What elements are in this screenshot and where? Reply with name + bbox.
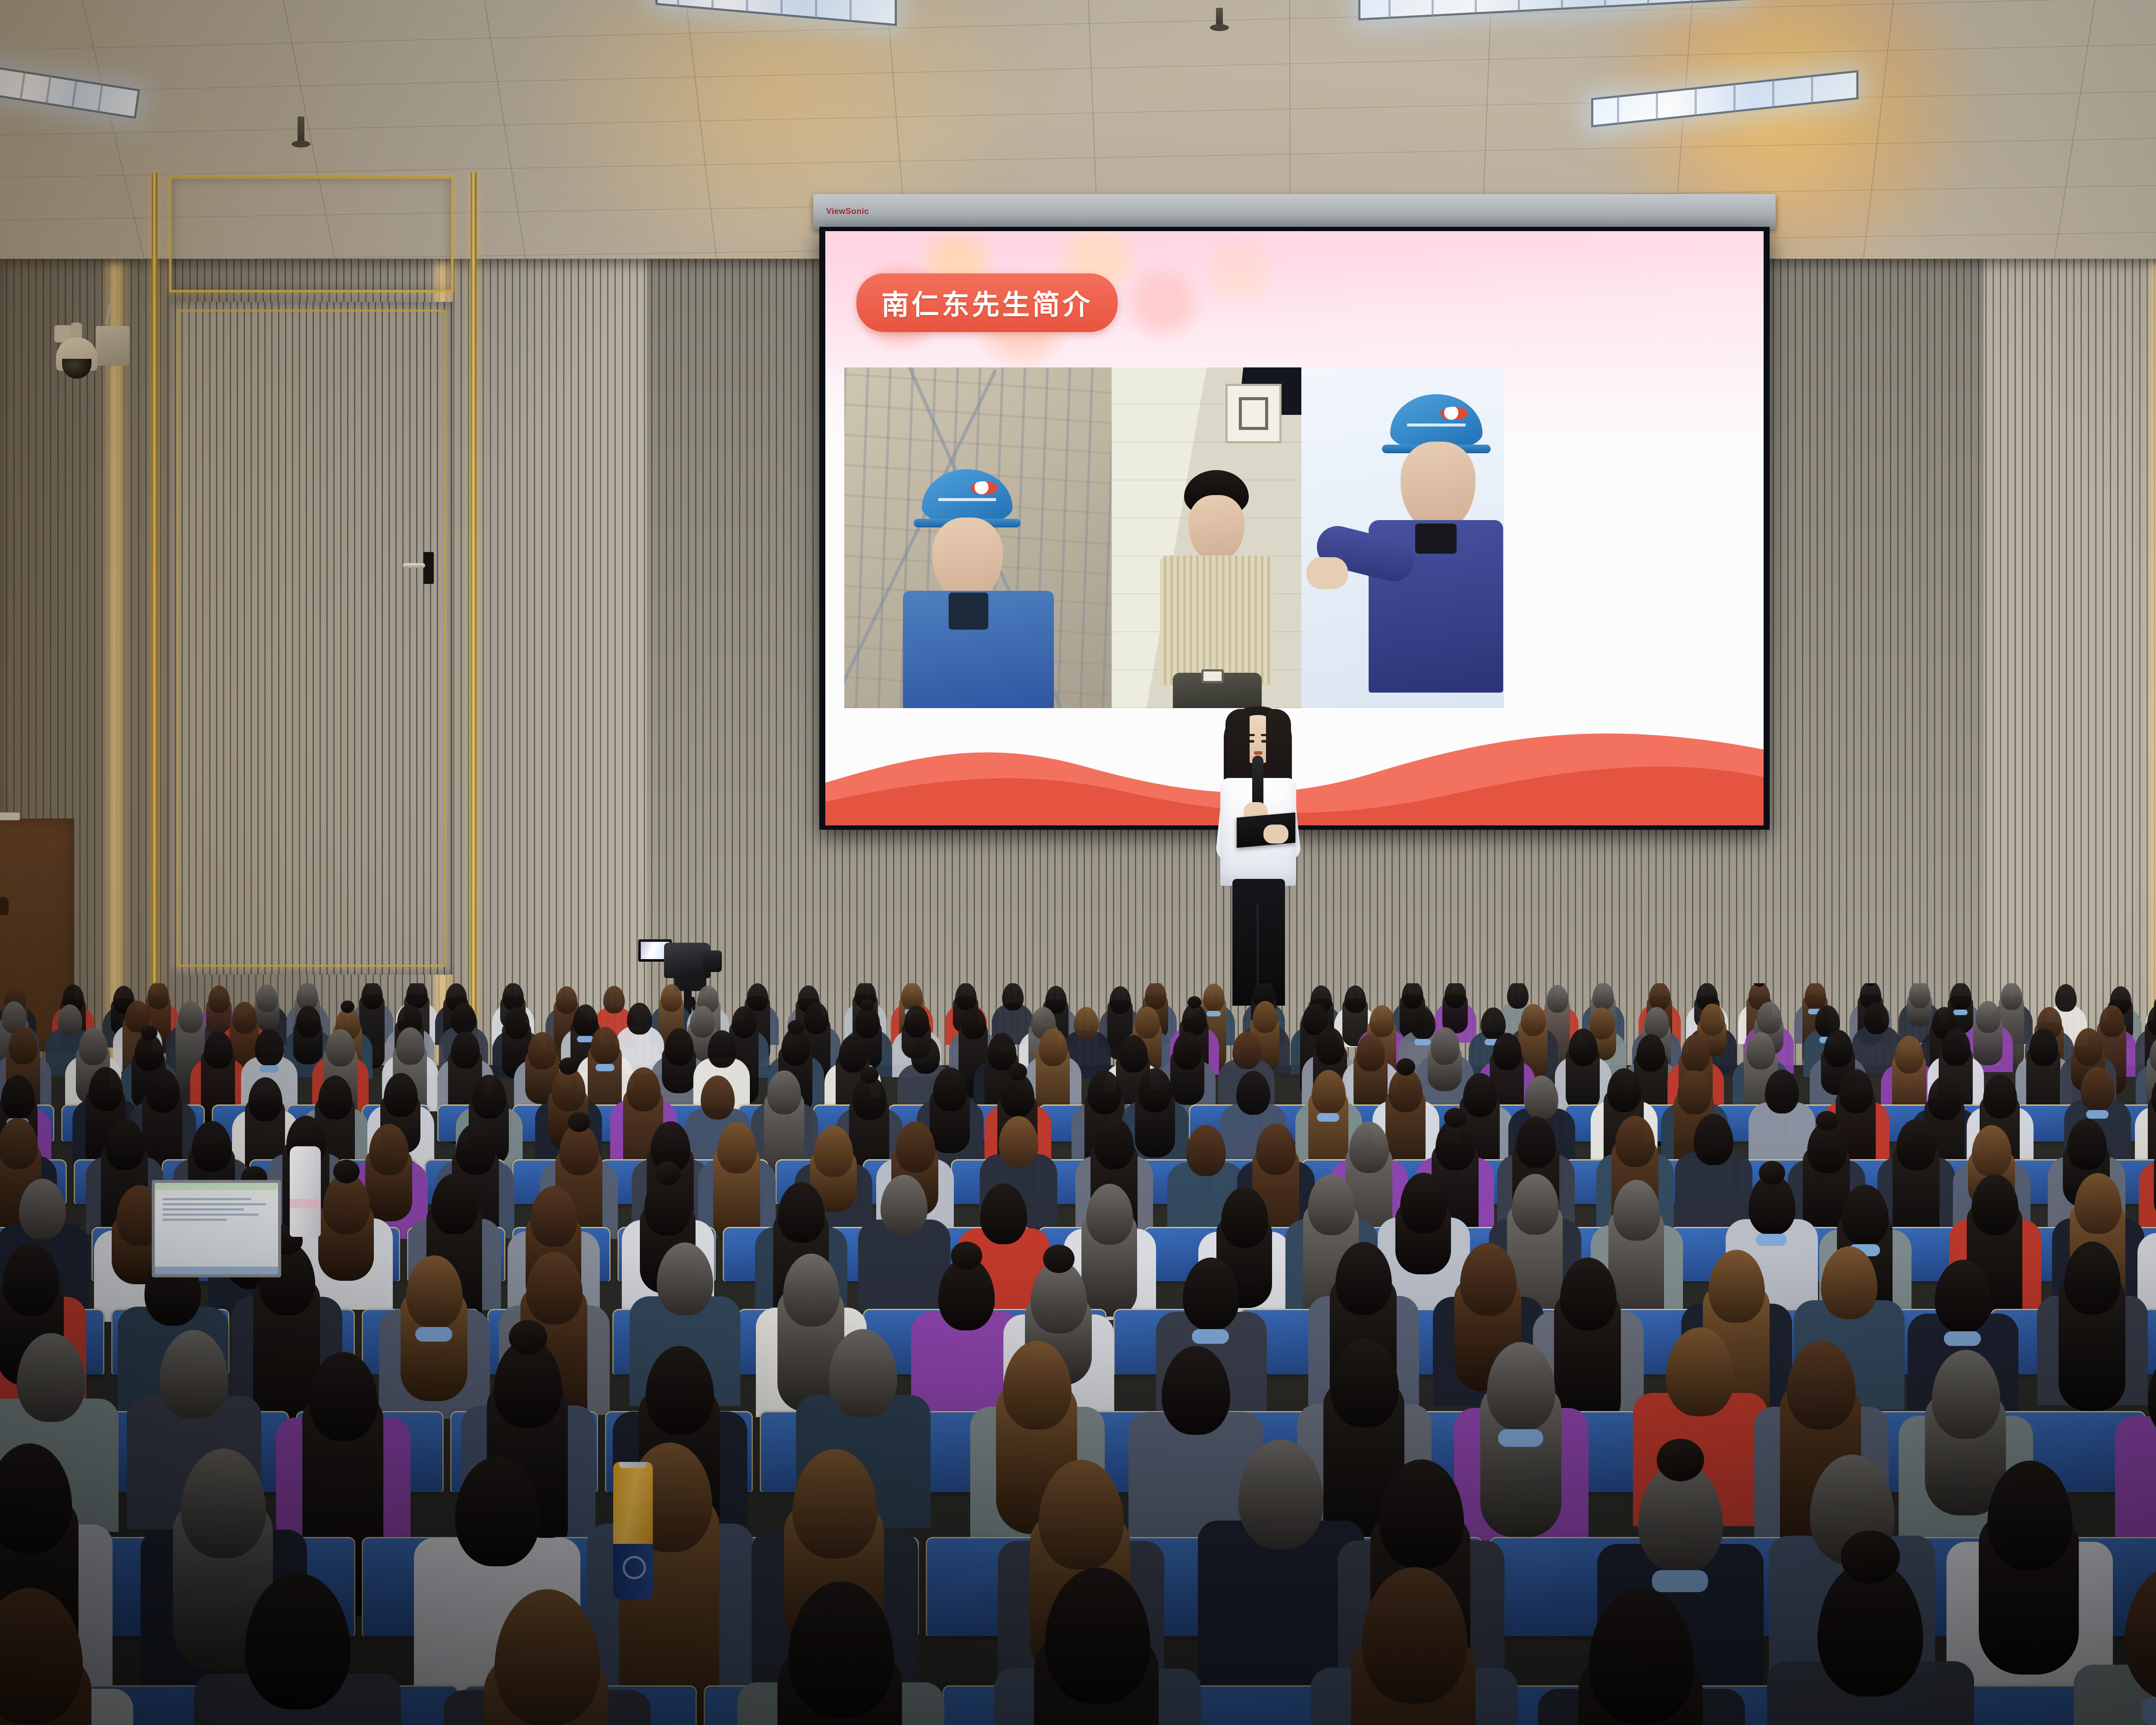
laptop-toolbar bbox=[155, 1183, 278, 1190]
ceiling-panel-seam bbox=[2040, 0, 2101, 276]
audience-props bbox=[0, 983, 2156, 1725]
audience-laptop[interactable] bbox=[152, 1180, 281, 1277]
wall-gold-trim bbox=[152, 172, 157, 1074]
blue-hardhat-icon bbox=[922, 469, 1012, 524]
face bbox=[932, 517, 1003, 602]
slide-title-badge: 南仁东先生简介 bbox=[856, 273, 1118, 332]
ceiling-panel-seam bbox=[73, 0, 165, 276]
auditorium-scene: ViewSonic 南仁东先生简介 bbox=[0, 0, 2156, 1725]
belt bbox=[1201, 669, 1224, 683]
face bbox=[1401, 442, 1476, 532]
door-handle-left[interactable] bbox=[423, 552, 434, 584]
figure-nan-pointing bbox=[1343, 394, 1504, 696]
hardhat-label bbox=[938, 498, 996, 501]
audience-seating-area bbox=[0, 983, 2156, 1725]
shirt-collar bbox=[1415, 524, 1457, 554]
striped-shirt bbox=[1160, 555, 1274, 685]
document-line bbox=[163, 1203, 266, 1205]
document-line bbox=[163, 1219, 227, 1221]
camcorder-lens bbox=[703, 950, 722, 972]
slide-title-text: 南仁东先生简介 bbox=[881, 289, 1093, 321]
photo-young-nan-portrait bbox=[1112, 367, 1301, 708]
hardhat-label bbox=[1407, 423, 1466, 427]
sprinkler-head bbox=[1216, 8, 1223, 27]
sprinkler-head bbox=[298, 116, 304, 143]
cabinet-hardware bbox=[0, 897, 9, 915]
glasses-icon bbox=[937, 541, 998, 561]
document-line bbox=[163, 1208, 244, 1211]
laptop-ribbon bbox=[155, 1190, 278, 1195]
cove-light-left-a bbox=[103, 263, 130, 1065]
bottle-cap bbox=[619, 1462, 647, 1468]
screen-brand-label: ViewSonic bbox=[826, 207, 869, 216]
laptop-taskbar bbox=[155, 1267, 278, 1274]
white-thermos[interactable] bbox=[290, 1146, 321, 1237]
door-left[interactable] bbox=[169, 302, 454, 975]
document-line bbox=[163, 1198, 251, 1200]
audience-glasses-icon bbox=[820, 1353, 862, 1366]
screen-roller-casing[interactable]: ViewSonic bbox=[813, 194, 1776, 229]
round-glasses-icon bbox=[1406, 467, 1470, 488]
cove-light-right-a bbox=[2147, 263, 2156, 1065]
camera-junction-box bbox=[96, 326, 129, 366]
cabinet-top-cap bbox=[0, 812, 20, 820]
figure-young-nan bbox=[1160, 470, 1274, 708]
photo-nan-pointing bbox=[1301, 367, 1504, 708]
jacket-collar bbox=[949, 593, 988, 630]
pointing-hand bbox=[1307, 557, 1348, 589]
presenter-hand-on-folder bbox=[1263, 825, 1288, 844]
wall-gold-trim bbox=[471, 172, 476, 1074]
hardhat-logo bbox=[1440, 407, 1468, 420]
hardhat-logo bbox=[971, 481, 998, 495]
door-panel-frame bbox=[177, 310, 446, 967]
wall-panel-frame-left-upper bbox=[169, 176, 454, 292]
document-line bbox=[163, 1214, 259, 1216]
orange-juice-bottle[interactable] bbox=[613, 1462, 653, 1600]
wall-sign-plate bbox=[1225, 384, 1282, 443]
mouth bbox=[1254, 751, 1263, 755]
slide-photo-row bbox=[844, 367, 1504, 708]
figure-nan-rendong bbox=[900, 469, 1056, 708]
face bbox=[1188, 495, 1244, 562]
photo-nan-at-fast-site bbox=[844, 367, 1112, 708]
bottle-label bbox=[613, 1544, 653, 1600]
presenter bbox=[1213, 699, 1303, 1006]
